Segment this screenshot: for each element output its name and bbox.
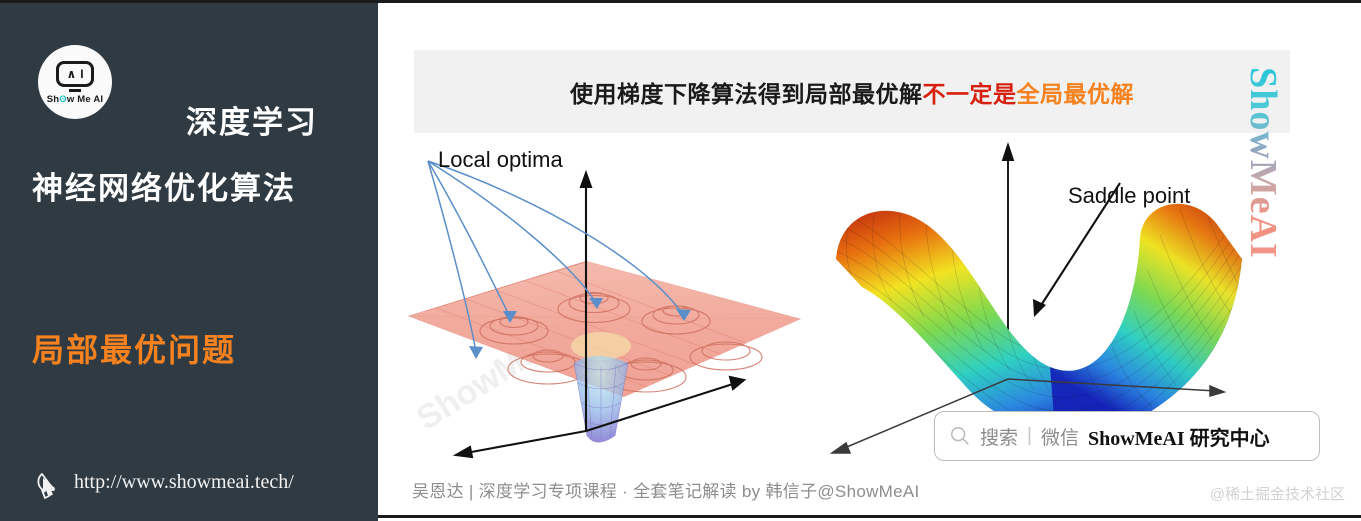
logo-word-o: ʘ: [59, 94, 67, 105]
search-channel: 微信: [1041, 423, 1079, 450]
search-placeholder: 搜索: [980, 423, 1018, 450]
footer-caption: 吴恩达 | 深度学习专项课程 · 全套笔记解读 by 韩信子@ShowMeAI: [412, 477, 920, 502]
logo-wordmark: Shʘw Me AI: [47, 94, 104, 105]
main-content: 使用梯度下降算法得到局部最优解不一定是全局最优解 ShowMeAI: [378, 3, 1361, 515]
local-optima-figure: ShowMeAI: [396, 131, 816, 461]
search-account-name: ShowMeAI 研究中心: [1088, 422, 1270, 451]
logo-face-left-glyph: ∧: [66, 68, 76, 80]
sidebar: ∧ I Shʘw Me AI 深度学习 神经网络优化算法 局部最优问题 http…: [0, 3, 378, 521]
sidebar-title-line2: 神经网络优化算法: [32, 163, 296, 208]
headline-part-red: 不一定是: [923, 81, 1017, 107]
search-divider: |: [1027, 425, 1032, 447]
logo-face-right-glyph: I: [80, 68, 83, 80]
saddle-surface: [836, 204, 1242, 440]
showmeai-robot-logo: ∧ I Shʘw Me AI: [38, 45, 112, 119]
robot-face-icon: ∧ I: [56, 61, 94, 87]
mouse-pointer-icon: [36, 469, 66, 501]
local-optima-label: Local optima: [438, 147, 563, 173]
headline-part-black: 使用梯度下降算法得到局部最优解: [570, 81, 923, 107]
saddle-point-label: Saddle point: [1068, 183, 1190, 209]
global-minimum-well: [574, 356, 628, 443]
robot-stem: [69, 89, 81, 92]
wechat-search-box[interactable]: 搜索 | 微信 ShowMeAI 研究中心: [934, 411, 1320, 461]
corner-credit: @稀土掘金技术社区: [1210, 483, 1345, 504]
headline-part-orange: 全局最优解: [1017, 81, 1135, 107]
headline-text: 使用梯度下降算法得到局部最优解不一定是全局最优解: [570, 75, 1134, 109]
sidebar-url[interactable]: http://www.showmeai.tech/: [74, 471, 294, 494]
sidebar-title-line1: 深度学习: [186, 97, 318, 142]
sidebar-topic-title: 局部最优问题: [32, 325, 236, 371]
logo-word-post: w Me AI: [67, 94, 103, 105]
slide-root: ∧ I Shʘw Me AI 深度学习 神经网络优化算法 局部最优问题 http…: [0, 0, 1361, 518]
logo-word-pre: Sh: [47, 94, 60, 105]
headline-banner: 使用梯度下降算法得到局部最优解不一定是全局最优解: [414, 50, 1290, 133]
figures-area: ShowMeAI: [378, 131, 1361, 461]
search-icon: [949, 425, 971, 447]
